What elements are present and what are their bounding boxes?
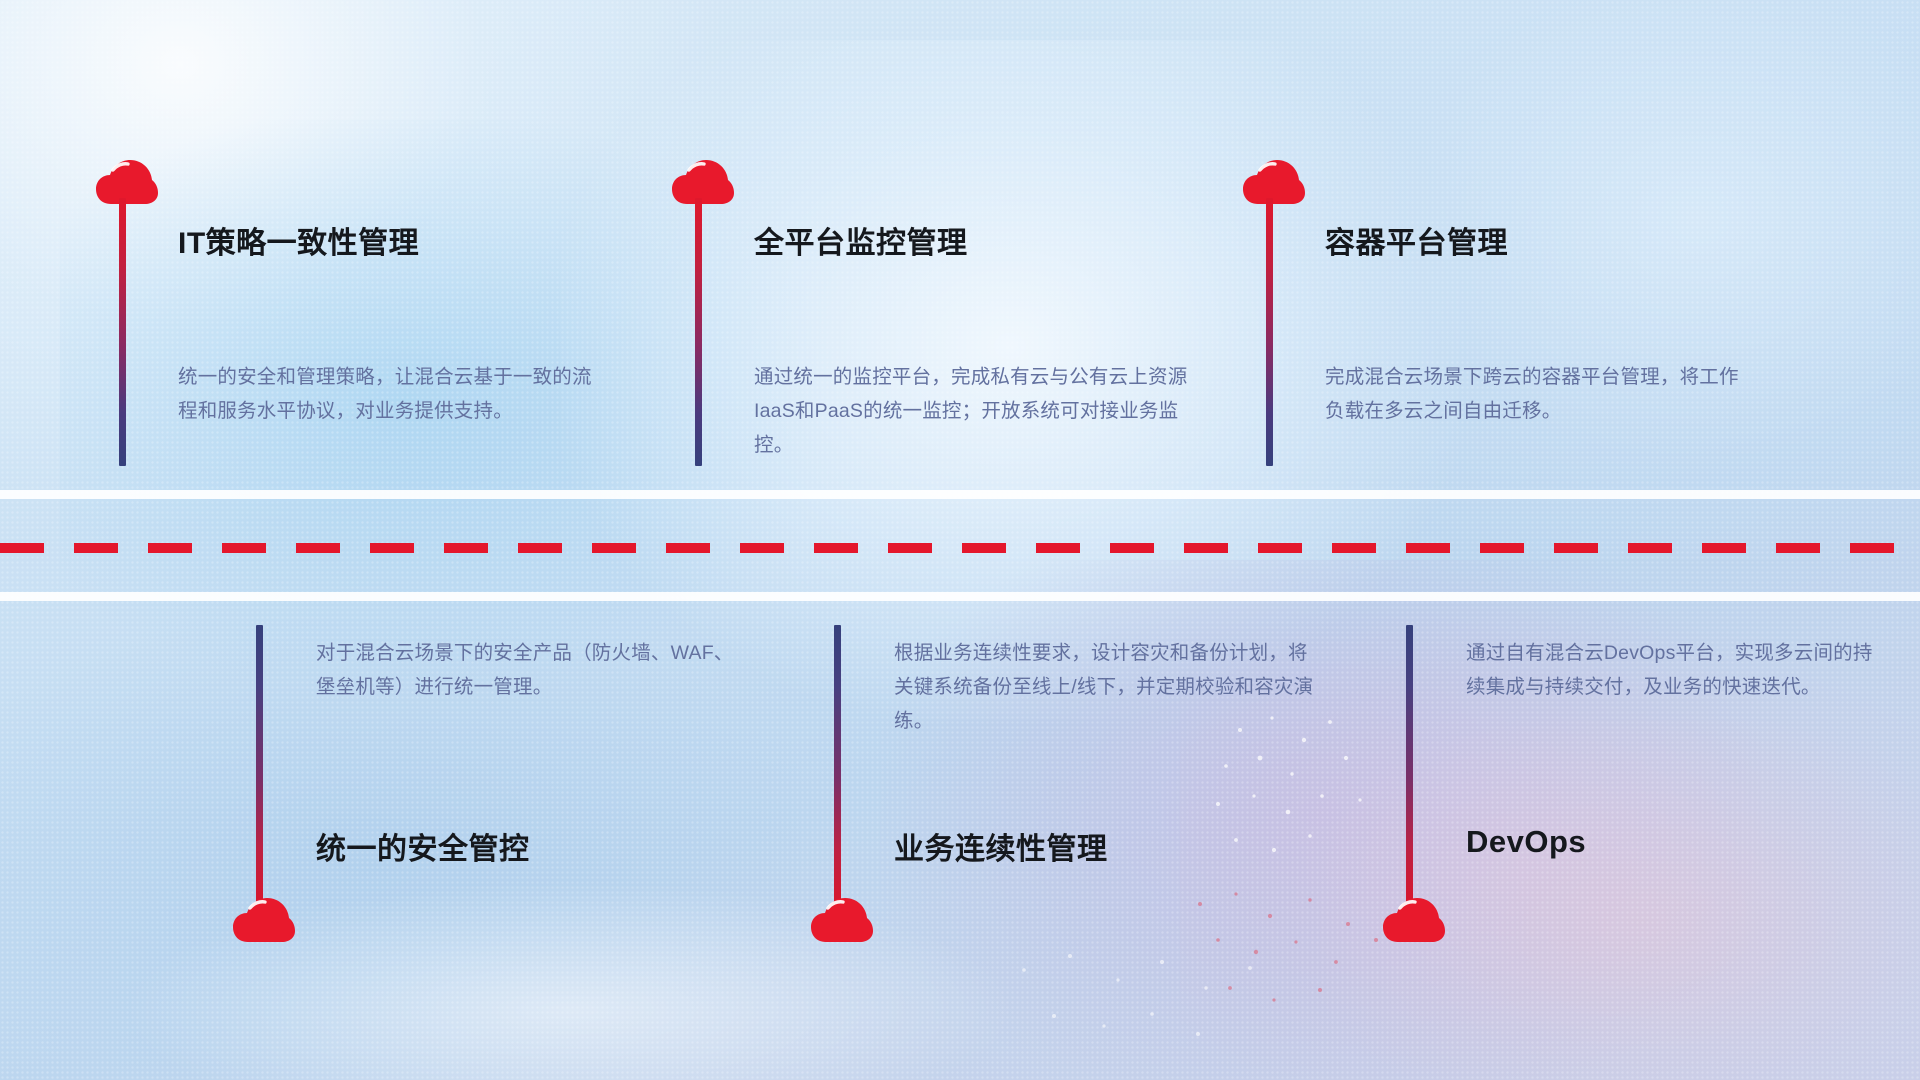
capability-description: 根据业务连续性要求，设计容灾和备份计划，将关键系统备份至线上/线下，并定期校验和… [894,636,1314,738]
infographic-canvas: IT策略一致性管理 统一的安全和管理策略，让混合云基于一致的流程和服务水平协议，… [0,0,1920,1080]
capability-description: 通过自有混合云DevOps平台，实现多云间的持续集成与持续交付，及业务的快速迭代… [1466,636,1886,704]
capability-title: 全平台监控管理 [754,218,968,262]
cloud-icon [233,898,295,944]
capability-description: 对于混合云场景下的安全产品（防火墙、WAF、堡垒机等）进行统一管理。 [316,636,736,704]
divider-bar-bottom [0,592,1920,601]
particle-cluster-bottom [1000,930,1380,1080]
connector-stem [834,625,841,905]
divider-dashed-line [0,543,1920,553]
capability-title: 容器平台管理 [1325,218,1508,262]
capability-description: 完成混合云场景下跨云的容器平台管理，将工作负载在多云之间自由迁移。 [1325,360,1745,428]
capability-title: DevOps [1466,824,1586,860]
cloud-icon [96,160,158,206]
cloud-icon [811,898,873,944]
capability-description: 通过统一的监控平台，完成私有云与公有云上资源IaaS和PaaS的统一监控；开放系… [754,360,1192,462]
capability-title: 业务连续性管理 [894,824,1108,868]
divider-bar-top [0,490,1920,499]
capability-title: 统一的安全管控 [316,824,530,868]
connector-stem [695,198,702,466]
connector-stem [1406,625,1413,905]
connector-stem [119,198,126,466]
cloud-icon [1243,160,1305,206]
capability-title: IT策略一致性管理 [178,218,419,262]
connector-stem [256,625,263,905]
connector-stem [1266,198,1273,466]
capability-description: 统一的安全和管理策略，让混合云基于一致的流程和服务水平协议，对业务提供支持。 [178,360,608,428]
cloud-icon [672,160,734,206]
cloud-icon [1383,898,1445,944]
